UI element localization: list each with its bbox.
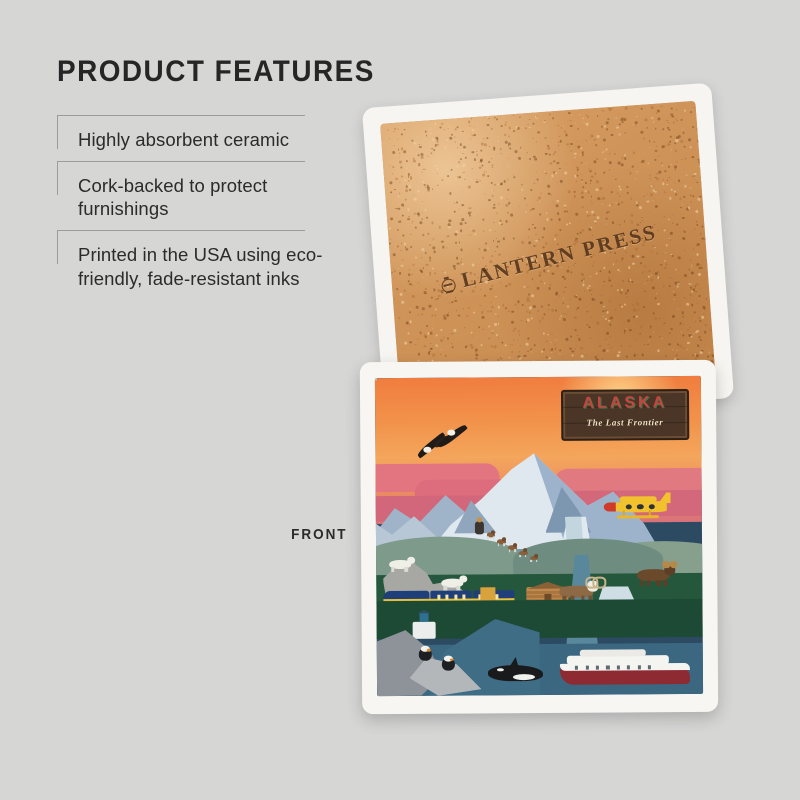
feature-text: Printed in the USA using eco-friendly, f… [78,243,357,290]
product-image-stage: PRODUCT FEATURES Highly absorbent cerami… [0,0,800,800]
lighthouse [409,610,439,639]
sign-title: ALASKA [563,394,687,413]
alaska-sign: ALASKA The Last Frontier [561,389,689,442]
float-plane [604,491,676,523]
coaster-front: ALASKA The Last Frontier [360,360,718,714]
product-features-panel: PRODUCT FEATURES Highly absorbent cerami… [57,55,357,299]
feature-item: Printed in the USA using eco-friendly, f… [57,230,357,299]
page-title: PRODUCT FEATURES [57,55,336,89]
bald-eagle [414,419,470,473]
moose [637,560,676,586]
artwork-surface: ALASKA The Last Frontier [375,376,703,696]
building [375,378,377,380]
mountain-goat [389,556,415,572]
label-front: FRONT [291,526,347,543]
cruise-ship [559,649,690,685]
sign-subtitle: The Last Frontier [563,417,687,428]
dog-sled-team [474,517,546,568]
puffin [419,645,432,661]
orca-whale [488,657,544,686]
puffin [442,654,455,670]
feature-text: Cork-backed to protect furnishings [78,174,357,221]
lantern-icon [439,274,457,293]
feature-text: Highly absorbent ceramic [78,128,357,152]
feature-item: Highly absorbent ceramic [57,115,357,161]
alaska-artwork: ALASKA The Last Frontier [375,376,703,696]
feature-item: Cork-backed to protect furnishings [57,161,357,230]
